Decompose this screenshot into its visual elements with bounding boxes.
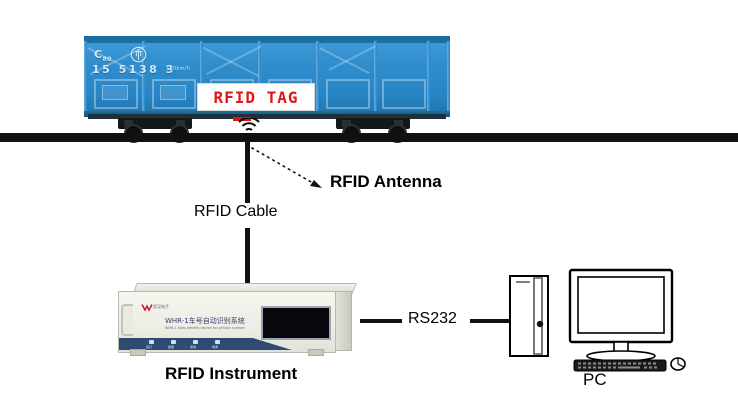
wagon-data-plate	[102, 85, 128, 100]
pc-monitor-icon	[570, 270, 672, 361]
wagon-speed-mark: 120km/h	[166, 66, 190, 72]
wagon-rib	[447, 41, 450, 115]
indicator-label-run: 运行	[146, 345, 152, 349]
rfid-tag-label: RFID TAG	[197, 83, 315, 111]
railway-logo-icon	[130, 46, 147, 63]
instrument-display[interactable]	[261, 306, 331, 340]
wagon-class-mark: C80	[94, 48, 112, 63]
wagon-top-rail	[84, 39, 450, 43]
label-rfid-cable: RFID Cable	[190, 203, 282, 221]
indicator-label-power: 电源	[212, 345, 218, 349]
wagon-rib	[84, 41, 87, 115]
wagon-brace	[206, 45, 262, 75]
wagon-brace	[329, 45, 376, 70]
instrument-front-panel: 武汉电子 WHR-1车号自动识别系统 WHR-1 Auto-identify d…	[118, 291, 336, 353]
indicator-label-comm: 通信	[190, 345, 196, 349]
rfid-instrument: 武汉电子 WHR-1车号自动识别系统 WHR-1 Auto-identify d…	[118, 283, 350, 361]
railway-wagon: C80 15 5138 3 120km/h	[84, 36, 450, 128]
instrument-handle[interactable]	[121, 304, 133, 336]
instrument-title-cn: WHR-1车号自动识别系统	[165, 316, 245, 326]
rfid-cable-upper	[245, 142, 250, 204]
indicator-led-fault	[171, 340, 176, 344]
instrument-title-en: WHR-1 Auto-identify device for vehicle n…	[165, 326, 245, 330]
rfid-antenna-icon	[236, 118, 262, 134]
pc-mouse-icon	[671, 358, 685, 370]
manufacturer-logo-icon	[141, 303, 153, 312]
wagon-panel-door	[326, 79, 370, 109]
instrument-foot	[130, 349, 146, 356]
label-rs232: RS232	[405, 310, 460, 328]
label-rfid-instrument: RFID Instrument	[165, 364, 297, 384]
wagon-rib	[427, 41, 430, 115]
wagon-rib	[374, 41, 377, 115]
pc-workstation	[508, 268, 688, 373]
indicator-led-comm	[193, 340, 198, 344]
rfid-cable-lower	[245, 228, 250, 288]
indicator-led-power	[215, 340, 220, 344]
indicator-label-fault: 故障	[168, 345, 174, 349]
diagram-canvas: C80 15 5138 3 120km/h	[0, 0, 738, 408]
wagon-data-plate	[160, 85, 186, 100]
label-rfid-antenna: RFID Antenna	[330, 172, 442, 192]
instrument-foot	[308, 349, 324, 356]
wagon-number: 15 5138 3	[92, 63, 176, 76]
label-pc: PC	[583, 370, 607, 390]
pc-tower-icon	[510, 276, 548, 356]
indicator-led-run	[149, 340, 154, 344]
rfid-tag-text: RFID TAG	[213, 88, 298, 107]
rail-track	[0, 133, 738, 142]
wagon-rib	[316, 41, 319, 115]
wagon-class-letter: C	[94, 48, 103, 61]
rs232-wire-left	[360, 319, 402, 323]
instrument-brand-text: 武汉电子	[153, 304, 169, 310]
antenna-pointer-line	[248, 146, 326, 190]
wagon-panel-door	[382, 79, 426, 109]
